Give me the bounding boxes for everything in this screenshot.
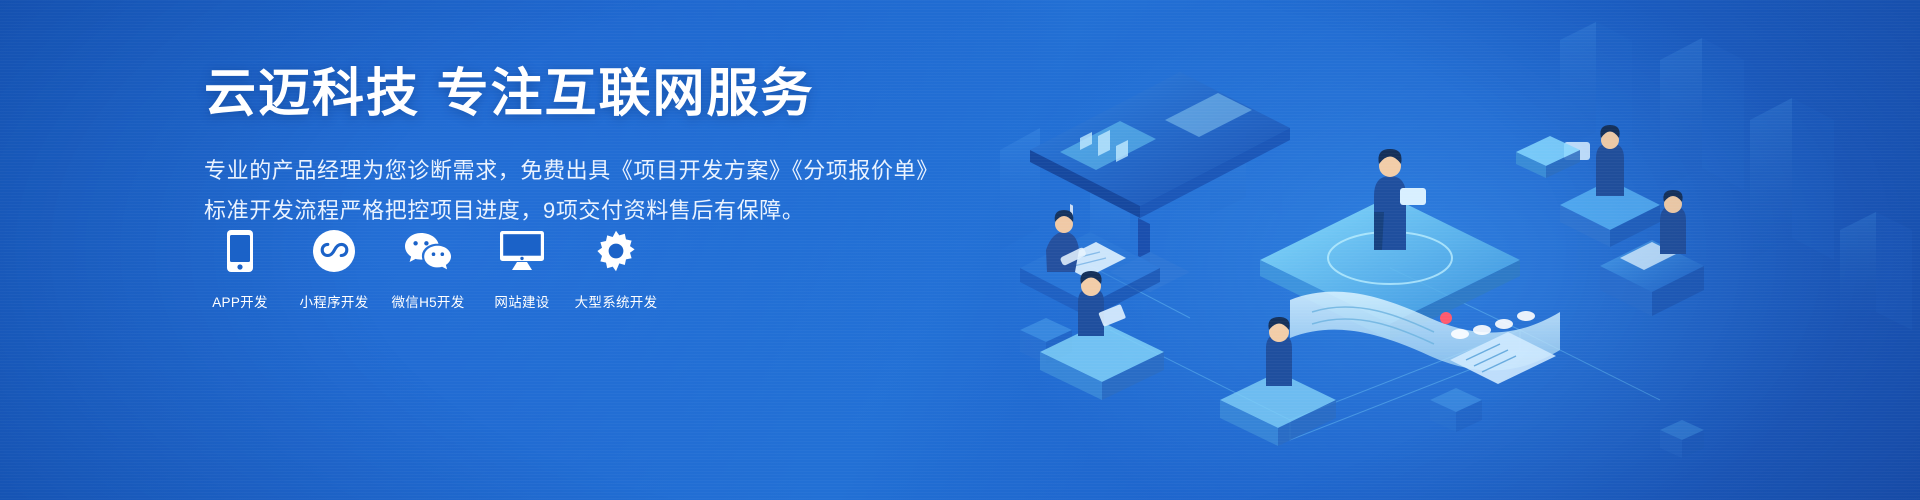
- wechat-icon: [404, 228, 452, 274]
- banner-content: 云迈科技 专注互联网服务 专业的产品经理为您诊断需求，免费出具《项目开发方案》《…: [204, 64, 1204, 230]
- subtitle-line-2: 标准开发流程严格把控项目进度，9项交付资料售后有保障。: [204, 191, 1204, 230]
- gear-icon: [595, 228, 637, 274]
- service-item-mini-program[interactable]: 小程序开发: [298, 228, 370, 311]
- banner-subtitle: 专业的产品经理为您诊断需求，免费出具《项目开发方案》《分项报价单》 标准开发流程…: [204, 151, 1204, 229]
- service-list: APP开发 小程序开发 微信: [204, 228, 674, 311]
- service-label: 网站建设: [494, 291, 549, 311]
- service-label: 大型系统开发: [575, 291, 658, 311]
- page-title: 云迈科技 专注互联网服务: [204, 64, 1204, 125]
- mobile-phone-icon: [227, 228, 253, 274]
- hero-banner: 云迈科技 专注互联网服务 专业的产品经理为您诊断需求，免费出具《项目开发方案》《…: [0, 0, 1920, 500]
- service-item-website[interactable]: 网站建设: [486, 228, 558, 311]
- service-item-large-system[interactable]: 大型系统开发: [580, 228, 652, 311]
- service-label: APP开发: [212, 291, 268, 311]
- service-label: 微信H5开发: [391, 291, 464, 311]
- service-item-app[interactable]: APP开发: [204, 228, 276, 311]
- subtitle-line-1: 专业的产品经理为您诊断需求，免费出具《项目开发方案》《分项报价单》: [204, 151, 1204, 190]
- service-item-wechat-h5[interactable]: 微信H5开发: [392, 228, 464, 311]
- service-label: 小程序开发: [300, 291, 369, 311]
- mini-program-icon: [313, 228, 355, 274]
- monitor-icon: [500, 228, 544, 274]
